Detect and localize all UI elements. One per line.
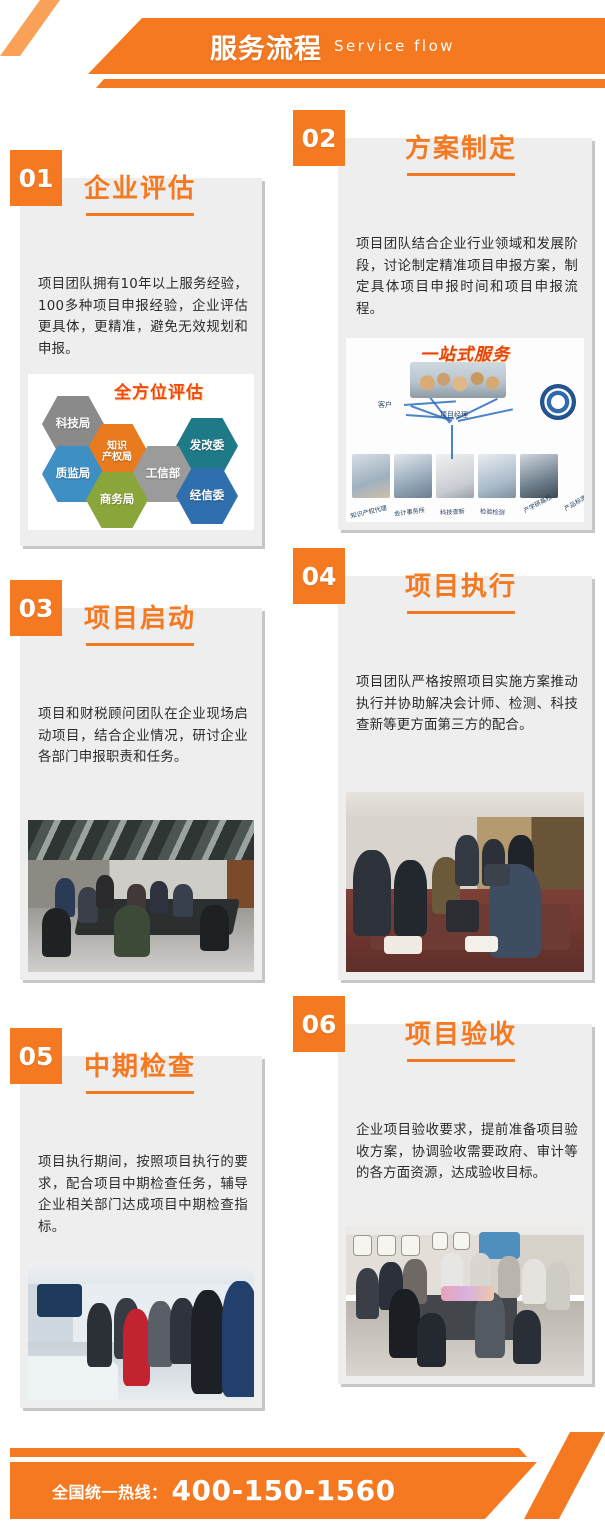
onestop-branch-thumb — [352, 454, 390, 498]
onestop-branch-label: 会计事务所 — [394, 505, 426, 518]
photo-conference-room — [28, 820, 254, 972]
onestop-branch-thumb — [478, 454, 516, 498]
card-title: 方案制定 — [405, 128, 517, 165]
hotline-number[interactable]: 400-150-1560 — [172, 1474, 396, 1507]
hotline-group: 全国统一热线： 400-150-1560 — [52, 1462, 396, 1519]
hex-label: 发改委 — [190, 439, 225, 452]
photo-laptop — [484, 864, 510, 886]
card-body: 项目团队结合企业行业领域和发展阶段，讨论制定精准项目申报方案，制定具体项目申报时… — [338, 138, 592, 530]
page-title: 服务流程 — [210, 27, 322, 66]
photo-person — [173, 884, 193, 917]
footer-diagonal-wedge — [524, 1432, 605, 1519]
step-number-badge: 01 — [10, 150, 62, 206]
onestop-branch-label: 产品标准国家 — [562, 486, 584, 512]
photo-person — [78, 887, 98, 923]
photo-person — [87, 1303, 112, 1366]
step-card-01[interactable]: 项目团队拥有10年以上服务经验，100多种项目申报经验，企业评估更具体，更精准，… — [0, 150, 270, 546]
card-body: 项目团队严格按照项目实施方案推动执行并协助解决会计师、检测、科技查新等更方面第三… — [338, 576, 592, 980]
onestop-branch-thumb — [436, 454, 474, 498]
card-title: 中期检查 — [84, 1046, 196, 1083]
hex-label: 商务局 — [100, 493, 135, 506]
card-description: 项目执行期间，按照项目执行的要求，配合项目中期检查任务，辅导企业相关部门达成项目… — [38, 1152, 248, 1239]
photo-person — [150, 881, 168, 913]
photo-wall-frame — [353, 1235, 372, 1256]
hexagon-chart-title: 全方位评估 — [114, 378, 204, 403]
photo-acceptance-meeting — [346, 1226, 584, 1376]
onestop-hero-photo — [410, 362, 506, 398]
onestop-branch-thumb — [520, 454, 558, 498]
service-flow-infographic: 服务流程 Service flow 项目团队拥有10年以上服务经验，100多种项… — [0, 0, 605, 1538]
header-title-group: 服务流程 Service flow — [0, 18, 605, 74]
photo-person — [114, 905, 150, 957]
hex-label: 科技局 — [56, 417, 91, 430]
photo-wall-frame — [377, 1235, 396, 1256]
card-title: 企业评估 — [84, 168, 196, 205]
team-working-meeting-photo — [346, 792, 584, 972]
photo-flowers — [441, 1286, 493, 1301]
onestop-figure: 一站式服务 客户 项目经理 ISO — [346, 338, 584, 522]
hex-label: 知识产权局 — [102, 441, 132, 464]
hex-label: 经信委 — [190, 489, 225, 502]
onestop-title: 一站式服务 — [420, 340, 510, 365]
acceptance-meeting-photo — [346, 1226, 584, 1376]
card-title: 项目启动 — [84, 598, 196, 635]
photo-laptop — [446, 900, 479, 932]
step-card-04[interactable]: 项目团队严格按照项目实施方案推动执行并协助解决会计师、检测、科技查新等更方面第三… — [290, 548, 605, 980]
step-card-03[interactable]: 项目和财税顾问团队在企业现场启动项目，结合企业情况，研讨企业各部门申报职责和任务… — [0, 580, 270, 980]
conference-room-kickoff-photo — [28, 820, 254, 972]
header-bar-accent — [0, 79, 605, 88]
card-body: 项目执行期间，按照项目执行的要求，配合项目中期检查任务，辅导企业相关部门达成项目… — [20, 1056, 262, 1408]
onestop-arrow — [451, 425, 453, 459]
photo-chair — [200, 905, 229, 951]
card-description: 项目团队结合企业行业领域和发展阶段，讨论制定精准项目申报方案，制定具体项目申报时… — [356, 234, 578, 321]
onestop-branch-label: 检验检测 — [480, 506, 505, 516]
hex-label: 工信部 — [146, 467, 181, 480]
photo-person — [546, 1262, 570, 1310]
card-body: 企业项目验收要求，提前准备项目验收方案，协调验收需要政府、审计等的各方面资源，达… — [338, 1024, 592, 1384]
hotline-label: 全国统一热线： — [52, 1479, 168, 1503]
photo-person — [222, 1281, 254, 1397]
photo-person — [389, 1289, 420, 1358]
onestop-branch-label: 知识产权代理 — [349, 503, 387, 520]
onestop-node-pm: 项目经理 — [440, 410, 468, 420]
iso-seal-icon: ISO — [540, 384, 576, 420]
photo-person — [394, 860, 427, 936]
card-body: 项目和财税顾问团队在企业现场启动项目，结合企业情况，研讨企业各部门申报职责和任务… — [20, 608, 262, 980]
photo-person — [356, 1268, 380, 1319]
card-description: 项目和财税顾问团队在企业现场启动项目，结合企业情况，研讨企业各部门申报职责和任务… — [38, 704, 248, 769]
photo-person — [353, 850, 391, 936]
header-banner: 服务流程 Service flow — [0, 0, 605, 110]
card-description: 项目团队严格按照项目实施方案推动执行并协助解决会计师、检测、科技查新等更方面第三… — [356, 672, 578, 737]
hex-label: 质监局 — [56, 467, 91, 480]
photo-team-meeting — [346, 792, 584, 972]
photo-person — [455, 835, 479, 885]
photo-chair — [417, 1313, 446, 1367]
photo-person — [96, 875, 114, 908]
step-number-badge: 02 — [293, 110, 345, 166]
step-number-badge: 04 — [293, 548, 345, 604]
photo-wall-frame — [432, 1232, 449, 1250]
page-subtitle: Service flow — [334, 37, 455, 55]
onestop-branch-label: 科技查新 — [440, 506, 465, 516]
step-card-05[interactable]: 项目执行期间，按照项目执行的要求，配合项目中期检查任务，辅导企业相关部门达成项目… — [0, 1028, 270, 1408]
photo-onsite-inspection — [28, 1262, 254, 1400]
photo-paper — [465, 936, 498, 952]
step-card-06[interactable]: 企业项目验收要求，提前准备项目验收方案，协调验收需要政府、审计等的各方面资源，达… — [290, 996, 605, 1384]
photo-paper — [384, 936, 422, 954]
step-number-badge: 06 — [293, 996, 345, 1052]
photo-chair — [513, 1310, 542, 1364]
footer-banner: 全国统一热线： 400-150-1560 — [0, 1410, 605, 1538]
photo-wall-frame — [453, 1232, 470, 1250]
photo-chair — [42, 908, 71, 957]
photo-wall-frame — [401, 1235, 420, 1256]
step-card-02[interactable]: 项目团队结合企业行业领域和发展阶段，讨论制定精准项目申报方案，制定具体项目申报时… — [290, 110, 605, 530]
photo-person — [191, 1290, 225, 1395]
card-description: 企业项目验收要求，提前准备项目验收方案，协调验收需要政府、审计等的各方面资源，达… — [356, 1120, 578, 1185]
step-number-badge: 05 — [10, 1028, 62, 1084]
footer-bar-accent — [10, 1448, 605, 1457]
card-body: 项目团队拥有10年以上服务经验，100多种项目申报经验，企业评估更具体，更精准，… — [20, 178, 262, 546]
card-description: 项目团队拥有10年以上服务经验，100多种项目申报经验，企业评估更具体，更精准，… — [38, 274, 248, 361]
photo-person — [522, 1259, 546, 1304]
photo-person — [475, 1292, 506, 1358]
onsite-inspection-photo — [28, 1262, 254, 1400]
photo-person — [123, 1309, 150, 1386]
quanfangwei-pinggu-hexagons: 全方位评估 科技局 知识产权局 发改委 质监局 工信部 商务局 经信委 — [28, 374, 254, 530]
one-stop-service-diagram: 一站式服务 客户 项目经理 ISO — [346, 338, 584, 522]
step-number-badge: 03 — [10, 580, 62, 636]
card-title: 项目执行 — [405, 566, 517, 603]
hexagon-chart: 全方位评估 科技局 知识产权局 发改委 质监局 工信部 商务局 经信委 — [28, 374, 254, 530]
onestop-branch-thumb — [394, 454, 432, 498]
photo-display-screen — [37, 1284, 82, 1317]
card-title: 项目验收 — [405, 1014, 517, 1051]
onestop-node-kehu: 客户 — [378, 400, 392, 410]
photo-person — [148, 1301, 173, 1367]
photo-person — [498, 1256, 519, 1298]
